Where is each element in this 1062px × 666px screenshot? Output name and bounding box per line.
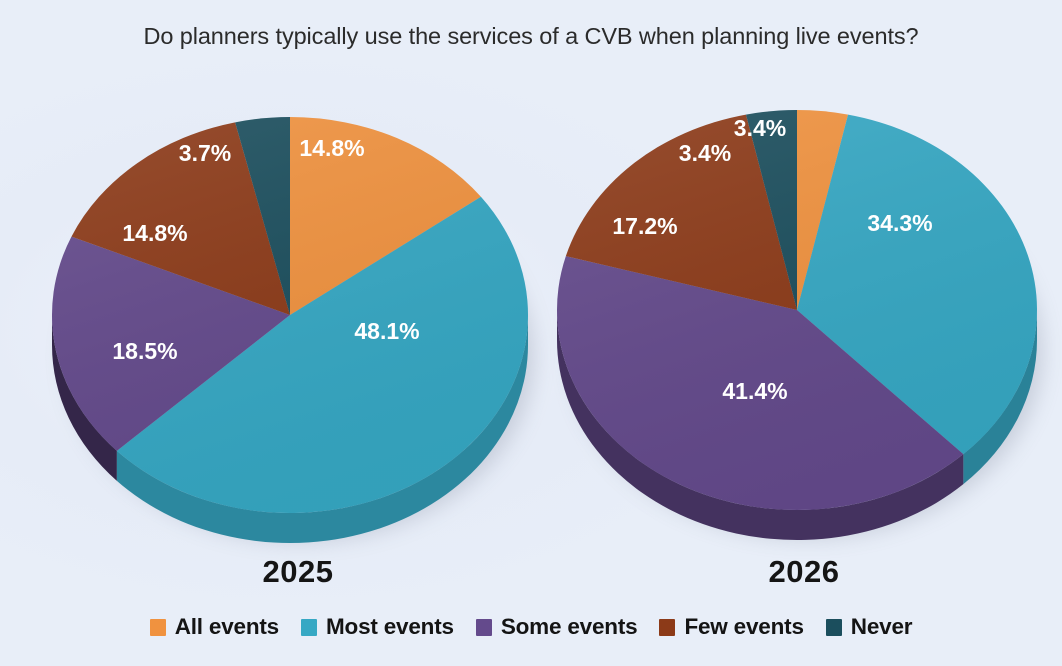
chart-legend: All eventsMost eventsSome eventsFew even… <box>0 614 1062 640</box>
legend-swatch-icon <box>476 619 492 636</box>
pie-slice-label-some-events: 18.5% <box>112 338 177 364</box>
legend-swatch-icon <box>150 619 166 636</box>
year-caption-2025: 2025 <box>178 554 418 590</box>
pie-slice-label-some-events: 41.4% <box>722 378 787 404</box>
pie-slice-label-all-events: 14.8% <box>299 135 364 161</box>
pie-chart-2026: 3.4%34.3%41.4%17.2%3.4% <box>520 88 1050 558</box>
pie-chart-figure: Do planners typically use the services o… <box>0 0 1062 666</box>
legend-item-never[interactable]: Never <box>826 614 913 640</box>
pie-slice-label-never: 3.4% <box>679 140 731 166</box>
year-caption-2026: 2026 <box>684 554 924 590</box>
pie-panel-2025: 14.8%48.1%18.5%14.8%3.7% <box>12 88 542 558</box>
pie-slice-label-few-events: 17.2% <box>612 213 677 239</box>
pie-panel-2026: 3.4%34.3%41.4%17.2%3.4% <box>520 88 1050 558</box>
legend-swatch-icon <box>659 619 675 636</box>
legend-item-label: Some events <box>501 614 638 640</box>
legend-swatch-icon <box>301 619 317 636</box>
pie-slice-label-most-events: 48.1% <box>354 318 419 344</box>
page-title: Do planners typically use the services o… <box>0 23 1062 50</box>
pie-slice-label-most-events: 34.3% <box>867 210 932 236</box>
pie-chart-2025: 14.8%48.1%18.5%14.8%3.7% <box>12 88 542 558</box>
legend-item-label: All events <box>175 614 279 640</box>
legend-item-most-events[interactable]: Most events <box>301 614 454 640</box>
legend-item-all-events[interactable]: All events <box>150 614 279 640</box>
legend-item-label: Most events <box>326 614 454 640</box>
legend-item-some-events[interactable]: Some events <box>476 614 638 640</box>
legend-item-label: Never <box>851 614 913 640</box>
legend-swatch-icon <box>826 619 842 636</box>
pie-slice-label-never: 3.7% <box>179 140 231 166</box>
pie-slice-label-few-events: 14.8% <box>122 220 187 246</box>
legend-item-few-events[interactable]: Few events <box>659 614 803 640</box>
pie-slice-label-all-events: 3.4% <box>734 115 786 141</box>
legend-item-label: Few events <box>684 614 803 640</box>
